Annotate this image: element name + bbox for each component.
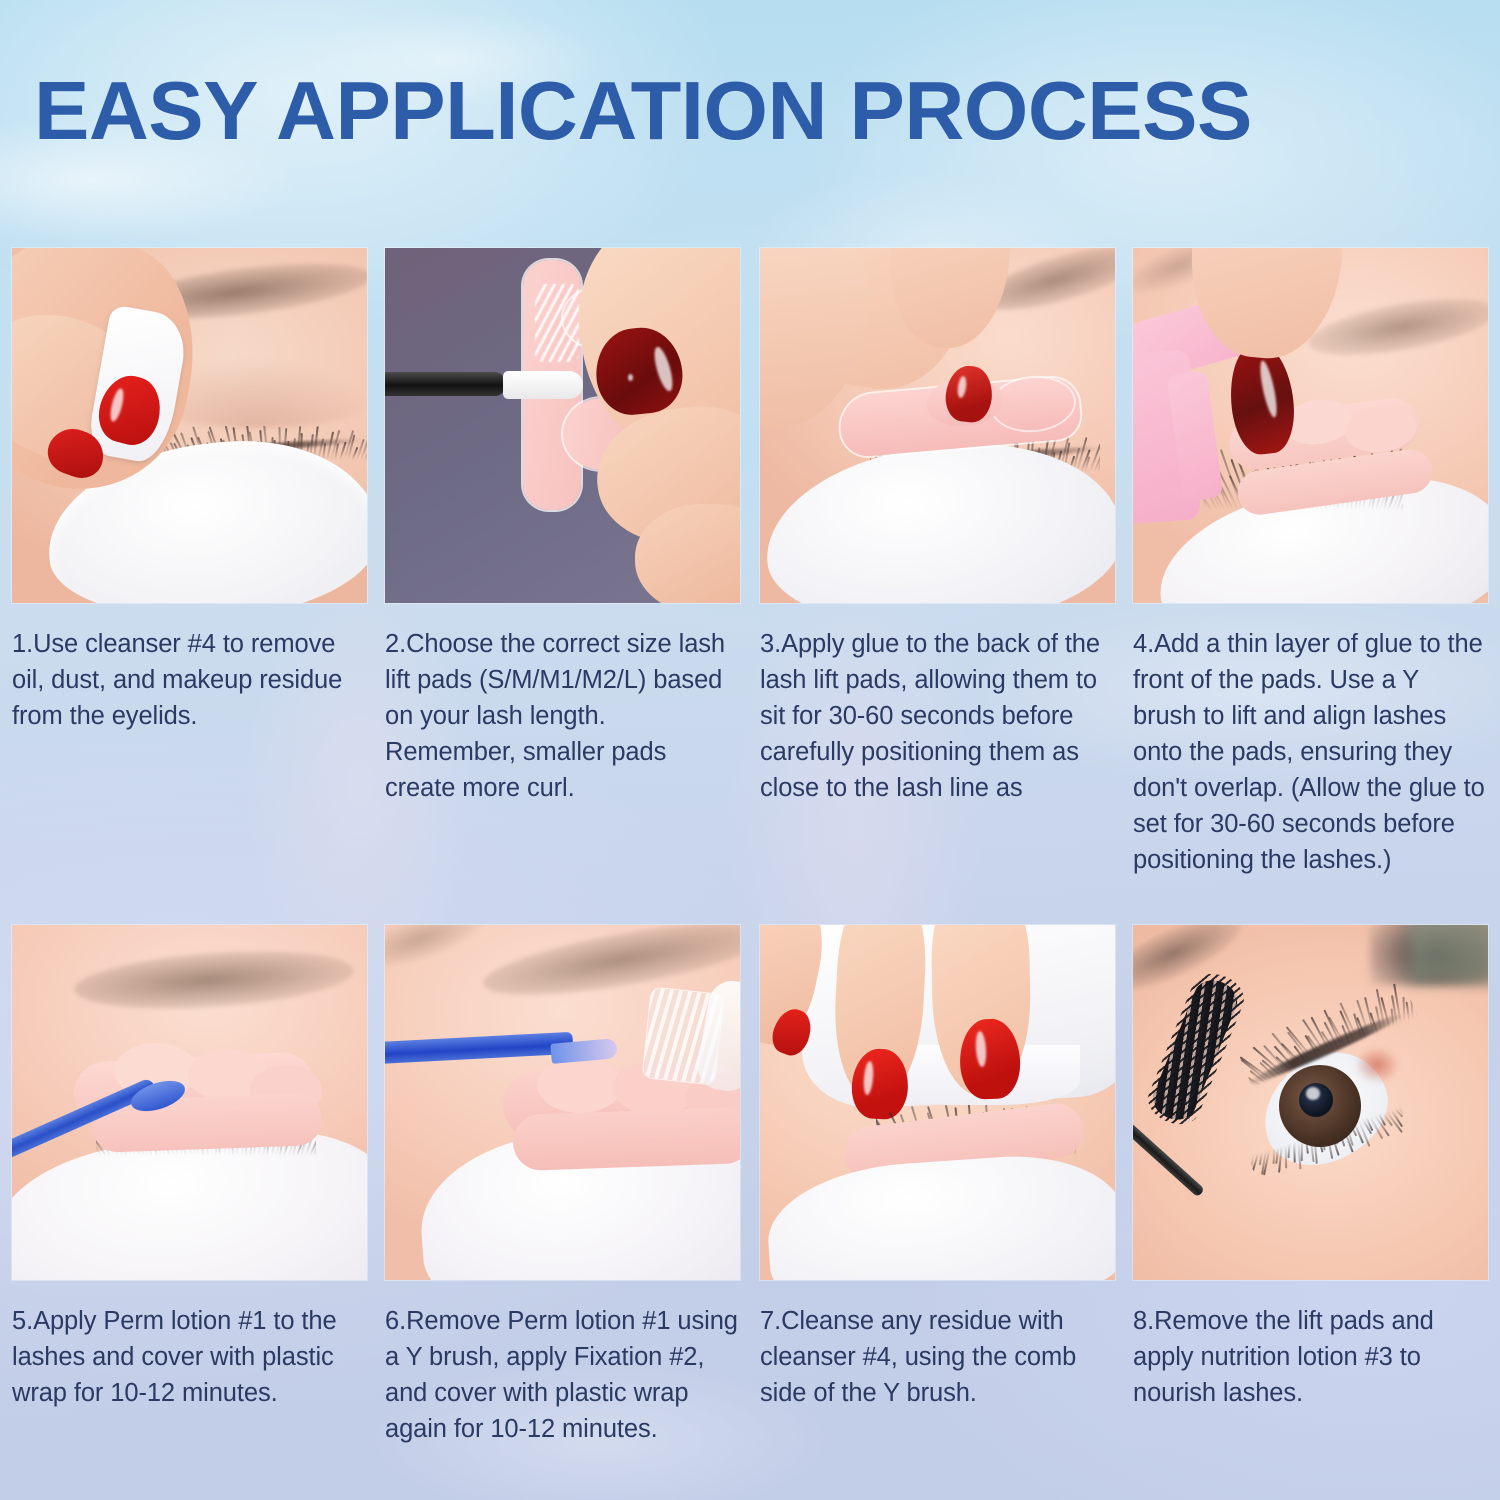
step-5-photo (12, 925, 367, 1280)
steps-row-top: 1.Use cleanser #4 to remove oil, dust, a… (0, 248, 1500, 920)
steps-row-bottom: 5.Apply Perm lotion #1 to the lashes and… (0, 925, 1500, 1465)
step-card-5: 5.Apply Perm lotion #1 to the lashes and… (12, 925, 367, 1411)
step-4-caption: 4.Add a thin layer of glue to the front … (1133, 626, 1488, 878)
step-2-caption: 2.Choose the correct size lash lift pads… (385, 626, 740, 806)
infographic-page: EASY APPLICATION PROCESS (0, 0, 1500, 1500)
step-2-photo (385, 248, 740, 603)
step-1-caption: 1.Use cleanser #4 to remove oil, dust, a… (12, 626, 367, 734)
applicator-handle (385, 372, 505, 396)
step-7-photo (760, 925, 1115, 1280)
step-card-6: 6.Remove Perm lotion #1 using a Y brush,… (385, 925, 740, 1447)
step-card-2: 2.Choose the correct size lash lift pads… (385, 248, 740, 806)
step-3-caption: 3.Apply glue to the back of the lash lif… (760, 626, 1115, 806)
steps-grid: 1.Use cleanser #4 to remove oil, dust, a… (0, 248, 1500, 1465)
step-5-caption: 5.Apply Perm lotion #1 to the lashes and… (12, 1303, 367, 1411)
step-1-photo (12, 248, 367, 603)
step-card-7: 7.Cleanse any residue with cleanser #4, … (760, 925, 1115, 1411)
step-8-caption: 8.Remove the lift pads and apply nutriti… (1133, 1303, 1488, 1411)
page-title: EASY APPLICATION PROCESS (34, 72, 1474, 150)
step-6-caption: 6.Remove Perm lotion #1 using a Y brush,… (385, 1303, 740, 1447)
step-card-1: 1.Use cleanser #4 to remove oil, dust, a… (12, 248, 367, 734)
step-7-caption: 7.Cleanse any residue with cleanser #4, … (760, 1303, 1115, 1411)
step-8-photo (1133, 925, 1488, 1280)
step-card-3: 3.Apply glue to the back of the lash lif… (760, 248, 1115, 806)
applicator-tip (503, 371, 583, 399)
step-4-photo (1133, 248, 1488, 603)
step-card-4: 4.Add a thin layer of glue to the front … (1133, 248, 1488, 878)
step-6-photo (385, 925, 740, 1280)
step-3-photo (760, 248, 1115, 603)
step-card-8: 8.Remove the lift pads and apply nutriti… (1133, 925, 1488, 1411)
